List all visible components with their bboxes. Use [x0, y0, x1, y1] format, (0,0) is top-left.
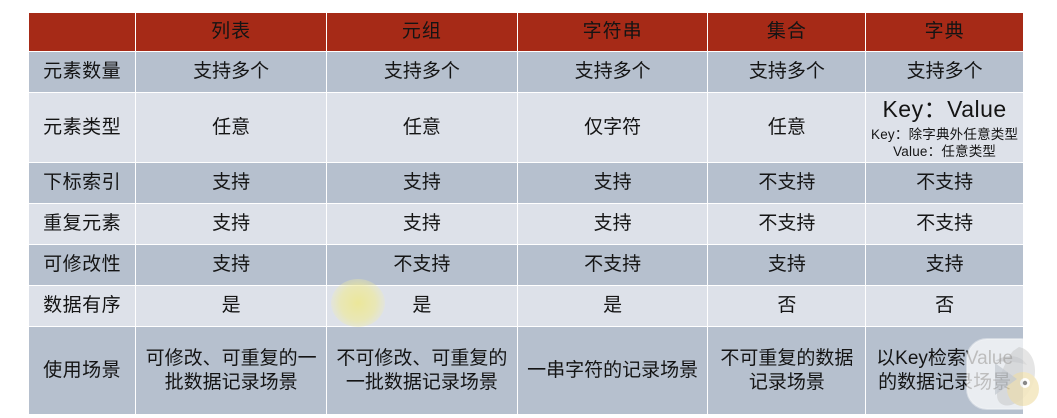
- slide-canvas: 列表 元组 字符串 集合 字典 元素数量 支持多个 支持多个 支持多个 支持多个…: [0, 0, 1057, 415]
- cell-ordered-string: 是: [517, 286, 708, 327]
- table-row: 重复元素 支持 支持 支持 不支持 不支持: [29, 204, 1024, 245]
- row-label-duplicate-elements: 重复元素: [29, 204, 136, 245]
- cell-type-tuple: 任意: [326, 93, 517, 163]
- column-header-list: 列表: [136, 13, 327, 52]
- table-row: 元素类型 任意 任意 仅字符 任意 Key：Value Key：除字典外任意类型…: [29, 93, 1024, 163]
- column-header-dict: 字典: [866, 13, 1024, 52]
- cell-index-string: 支持: [517, 163, 708, 204]
- cell-mutable-dict: 支持: [866, 245, 1024, 286]
- cell-mutable-tuple: 不支持: [326, 245, 517, 286]
- cell-dup-tuple: 支持: [326, 204, 517, 245]
- cell-usecase-tuple: 不可修改、可重复的一批数据记录场景: [326, 327, 517, 415]
- cell-count-dict: 支持多个: [866, 52, 1024, 93]
- cell-usecase-set: 不可重复的数据记录场景: [708, 327, 866, 415]
- cell-index-list: 支持: [136, 163, 327, 204]
- table-row: 可修改性 支持 不支持 不支持 支持 支持: [29, 245, 1024, 286]
- dict-value-description: Value：任意类型: [870, 143, 1019, 160]
- row-label-use-case: 使用场景: [29, 327, 136, 415]
- cell-ordered-dict: 否: [866, 286, 1024, 327]
- cell-dup-set: 不支持: [708, 204, 866, 245]
- cell-type-set: 任意: [708, 93, 866, 163]
- row-label-element-type: 元素类型: [29, 93, 136, 163]
- cell-ordered-set: 否: [708, 286, 866, 327]
- table-row: 数据有序 是 是 是 否 否: [29, 286, 1024, 327]
- cell-dup-string: 支持: [517, 204, 708, 245]
- cell-ordered-tuple: 是: [326, 286, 517, 327]
- cell-index-tuple: 支持: [326, 163, 517, 204]
- row-label-index-access: 下标索引: [29, 163, 136, 204]
- cell-usecase-dict: 以Key检索Value的数据记录场景: [866, 327, 1024, 415]
- table-body: 元素数量 支持多个 支持多个 支持多个 支持多个 支持多个 元素类型 任意 任意…: [29, 52, 1024, 415]
- cell-count-set: 支持多个: [708, 52, 866, 93]
- cell-type-dict: Key：Value Key：除字典外任意类型 Value：任意类型: [866, 93, 1024, 163]
- header-row: 列表 元组 字符串 集合 字典: [29, 13, 1024, 52]
- column-header-string: 字符串: [517, 13, 708, 52]
- cell-index-dict: 不支持: [866, 163, 1024, 204]
- cell-usecase-list: 可修改、可重复的一批数据记录场景: [136, 327, 327, 415]
- cell-dup-dict: 不支持: [866, 204, 1024, 245]
- table-header: 列表 元组 字符串 集合 字典: [29, 13, 1024, 52]
- header-corner-cell: [29, 13, 136, 52]
- dict-keyvalue-heading: Key：Value: [870, 95, 1019, 124]
- cell-type-string: 仅字符: [517, 93, 708, 163]
- row-label-mutability: 可修改性: [29, 245, 136, 286]
- cell-usecase-string: 一串字符的记录场景: [517, 327, 708, 415]
- cell-type-list: 任意: [136, 93, 327, 163]
- table-row: 下标索引 支持 支持 支持 不支持 不支持: [29, 163, 1024, 204]
- column-header-tuple: 元组: [326, 13, 517, 52]
- cell-count-list: 支持多个: [136, 52, 327, 93]
- cell-count-string: 支持多个: [517, 52, 708, 93]
- cell-mutable-set: 支持: [708, 245, 866, 286]
- table-row: 元素数量 支持多个 支持多个 支持多个 支持多个 支持多个: [29, 52, 1024, 93]
- dict-key-description: Key：除字典外任意类型: [870, 126, 1019, 143]
- python-container-comparison-table: 列表 元组 字符串 集合 字典 元素数量 支持多个 支持多个 支持多个 支持多个…: [28, 12, 1024, 415]
- cell-count-tuple: 支持多个: [326, 52, 517, 93]
- cell-mutable-list: 支持: [136, 245, 327, 286]
- row-label-ordered: 数据有序: [29, 286, 136, 327]
- cell-index-set: 不支持: [708, 163, 866, 204]
- column-header-set: 集合: [708, 13, 866, 52]
- table-row: 使用场景 可修改、可重复的一批数据记录场景 不可修改、可重复的一批数据记录场景 …: [29, 327, 1024, 415]
- cell-ordered-list: 是: [136, 286, 327, 327]
- row-label-element-count: 元素数量: [29, 52, 136, 93]
- cell-dup-list: 支持: [136, 204, 327, 245]
- cell-mutable-string: 不支持: [517, 245, 708, 286]
